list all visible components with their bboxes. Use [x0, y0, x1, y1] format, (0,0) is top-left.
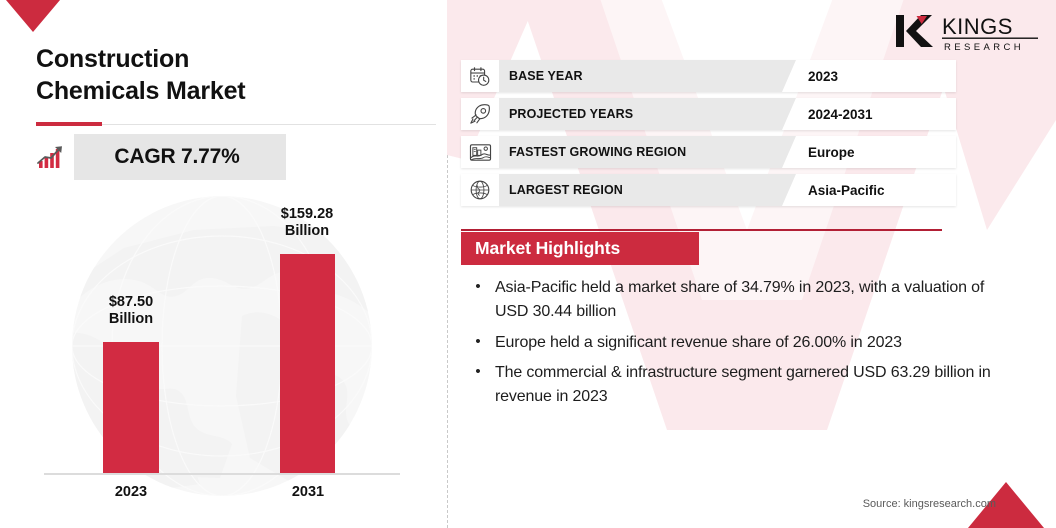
bullet-marker-icon: •	[461, 331, 495, 355]
chart-axis-line	[44, 473, 400, 475]
growth-bar-chart-icon	[36, 144, 66, 170]
rocket-icon	[469, 103, 491, 125]
bullet-marker-icon: •	[461, 361, 495, 410]
source-credit: Source: kingsresearch.com	[863, 498, 996, 510]
left-panel: Construction Chemicals Market CAGR 7.77%	[0, 0, 447, 528]
row-icon-cell	[461, 98, 499, 130]
logo-k-mark	[896, 15, 933, 47]
market-highlights-banner: Market Highlights	[461, 232, 699, 265]
list-item-text: The commercial & infrastructure segment …	[495, 361, 995, 410]
bar-label-amount-2023: $87.50	[74, 294, 188, 311]
list-item-text: Europe held a significant revenue share …	[495, 331, 995, 355]
row-value: Europe	[796, 145, 855, 160]
row-value: 2024-2031	[796, 107, 873, 122]
row-label-cell: BASE YEAR	[499, 60, 796, 92]
row-value-cell: 2024-2031	[796, 98, 956, 130]
row-icon-cell	[461, 136, 499, 168]
list-item-text: Asia-Pacific held a market share of 34.7…	[495, 276, 995, 325]
table-row: FASTEST GROWING REGION Europe	[461, 136, 956, 168]
bar-label-2031: $159.28 Billion	[250, 206, 364, 241]
row-icon-cell	[461, 60, 499, 92]
list-item: • Europe held a significant revenue shar…	[461, 331, 1011, 355]
page-title-line2: Chemicals Market	[36, 76, 376, 108]
list-item: • The commercial & infrastructure segmen…	[461, 361, 1011, 410]
market-highlights-title: Market Highlights	[461, 238, 620, 259]
kings-research-logo: KINGS RESEARCH	[894, 10, 1042, 54]
row-label-cell: LARGEST REGION	[499, 174, 796, 206]
row-label-cell: FASTEST GROWING REGION	[499, 136, 796, 168]
row-label: LARGEST REGION	[499, 183, 623, 197]
row-label: BASE YEAR	[499, 69, 583, 83]
page-title-line1: Construction	[36, 44, 376, 76]
info-table: BASE YEAR 2023 PROJECTED Y	[461, 60, 956, 212]
bar-2031	[280, 254, 335, 473]
cagr-value: CAGR 7.77%	[74, 145, 286, 169]
title-underline	[36, 122, 436, 126]
bar-2023	[103, 342, 159, 473]
cagr-icon-box	[28, 134, 74, 180]
row-value: Asia-Pacific	[796, 183, 885, 198]
row-label: FASTEST GROWING REGION	[499, 145, 686, 159]
highlights-top-rule	[461, 229, 942, 231]
table-row: PROJECTED YEARS 2024-2031	[461, 98, 956, 130]
row-icon-cell	[461, 174, 499, 206]
highlights-list: • Asia-Pacific held a market share of 34…	[461, 276, 1011, 416]
bar-chart: $87.50 Billion $159.28 Billion 2023 2031	[0, 196, 447, 516]
row-value-cell: Asia-Pacific	[796, 174, 956, 206]
list-item: • Asia-Pacific held a market share of 34…	[461, 276, 1011, 325]
title-underline-red	[36, 122, 102, 126]
bar-label-amount-2031: $159.28	[250, 206, 364, 223]
x-axis-label-2031: 2031	[251, 484, 365, 500]
bar-label-unit-2031: Billion	[250, 223, 364, 240]
globe-icon	[469, 179, 491, 201]
infographic-page: Construction Chemicals Market CAGR 7.77%	[0, 0, 1056, 528]
x-axis-label-2023: 2023	[74, 484, 188, 500]
calendar-clock-icon	[469, 66, 491, 87]
bar-label-2023: $87.50 Billion	[74, 294, 188, 329]
logo-research-text: RESEARCH	[944, 42, 1024, 53]
row-value-cell: Europe	[796, 136, 956, 168]
row-label: PROJECTED YEARS	[499, 107, 633, 121]
bullet-marker-icon: •	[461, 276, 495, 325]
row-label-cell: PROJECTED YEARS	[499, 98, 796, 130]
cagr-badge: CAGR 7.77%	[28, 134, 286, 180]
page-title: Construction Chemicals Market	[36, 44, 376, 107]
city-landscape-icon	[469, 142, 492, 163]
bar-label-unit-2023: Billion	[74, 311, 188, 328]
table-row: LARGEST REGION Asia-Pacific	[461, 174, 956, 206]
row-value-cell: 2023	[796, 60, 956, 92]
logo-kings-text: KINGS	[942, 14, 1013, 39]
table-row: BASE YEAR 2023	[461, 60, 956, 92]
row-value: 2023	[796, 69, 838, 84]
right-panel: KINGS RESEARCH	[447, 0, 1056, 528]
